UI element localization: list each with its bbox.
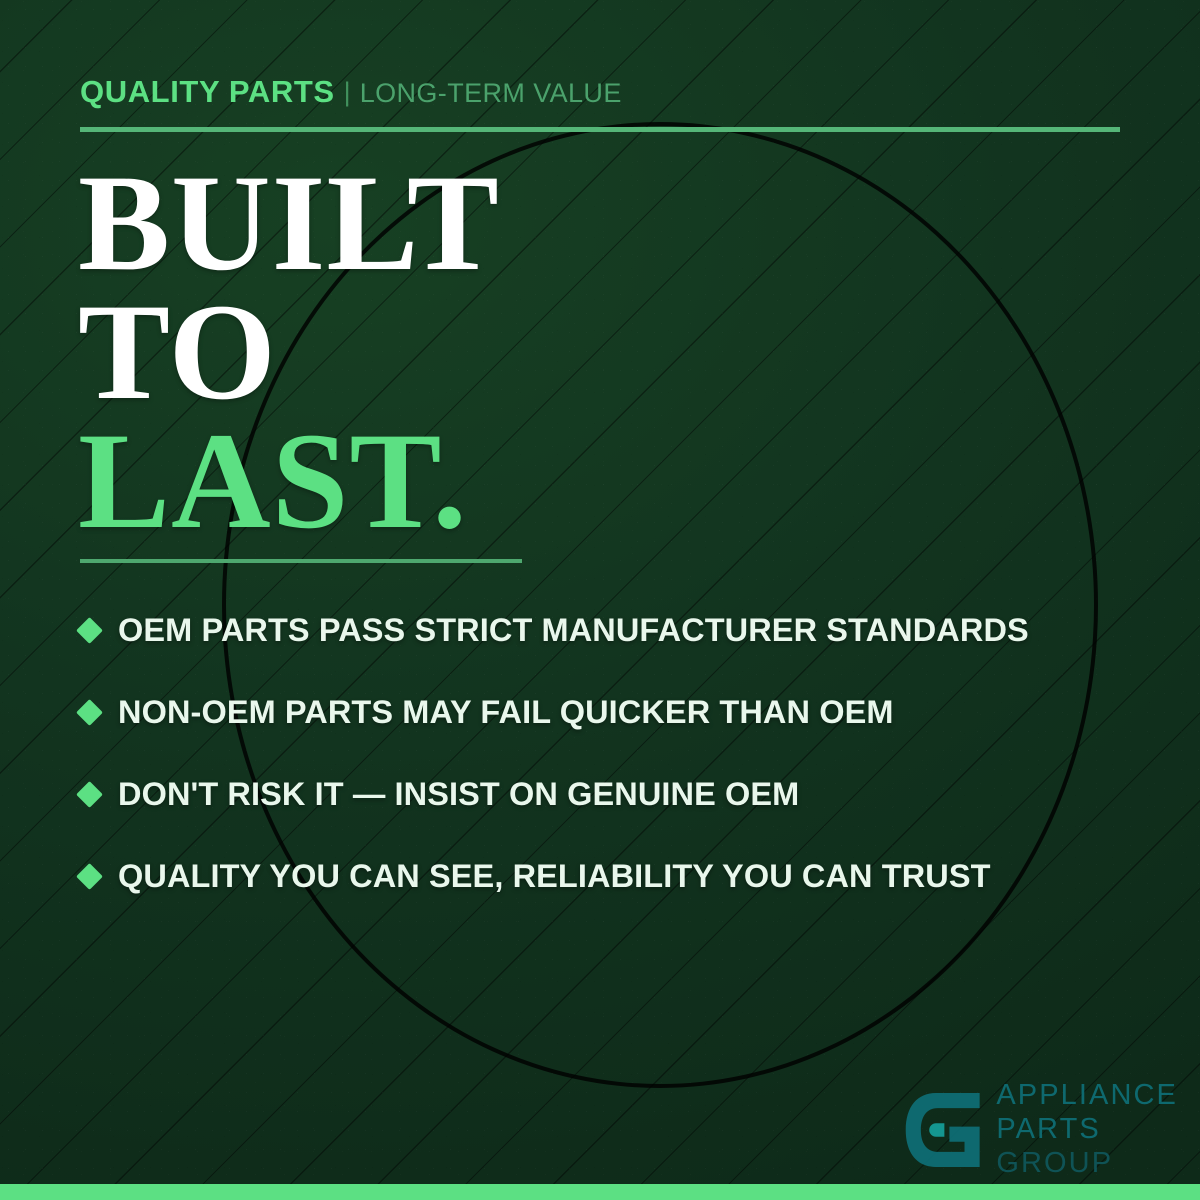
headline-divider-rule bbox=[80, 559, 522, 563]
brand-logo: APPLIANCE PARTS GROUP bbox=[899, 1081, 1178, 1178]
diamond-bullet-icon bbox=[76, 863, 103, 890]
eyebrow-header: QUALITY PARTS | LONG-TERM VALUE bbox=[80, 74, 622, 110]
diamond-bullet-icon bbox=[76, 781, 103, 808]
diamond-bullet-icon bbox=[76, 699, 103, 726]
brand-logo-wordmark: APPLIANCE PARTS GROUP bbox=[996, 1081, 1178, 1178]
brand-line-1: APPLIANCE bbox=[996, 1081, 1178, 1110]
list-item-label: NON-OEM PARTS MAY FAIL QUICKER THAN OEM bbox=[118, 694, 894, 731]
list-item: DON'T RISK IT — INSIST ON GENUINE OEM bbox=[80, 753, 1160, 835]
brand-line-3: GROUP bbox=[996, 1149, 1178, 1178]
bottom-accent-bar bbox=[0, 1184, 1200, 1200]
list-item-label: DON'T RISK IT — INSIST ON GENUINE OEM bbox=[118, 776, 799, 813]
headline-line-1: BUILT bbox=[78, 158, 500, 287]
page-title: BUILT TO LAST. bbox=[78, 158, 500, 545]
list-item-label: OEM PARTS PASS STRICT MANUFACTURER STAND… bbox=[118, 612, 1029, 649]
list-item: NON-OEM PARTS MAY FAIL QUICKER THAN OEM bbox=[80, 671, 1160, 753]
eyebrow-separator: | bbox=[344, 77, 351, 108]
headline-line-3: LAST. bbox=[78, 416, 500, 545]
benefits-list: OEM PARTS PASS STRICT MANUFACTURER STAND… bbox=[80, 589, 1160, 917]
promo-poster: QUALITY PARTS | LONG-TERM VALUE BUILT TO… bbox=[0, 0, 1200, 1200]
brand-line-2: PARTS bbox=[996, 1115, 1178, 1144]
headline-line-2: TO bbox=[78, 287, 500, 416]
list-item-label: QUALITY YOU CAN SEE, RELIABILITY YOU CAN… bbox=[118, 858, 991, 895]
appliance-parts-group-g-icon bbox=[899, 1088, 983, 1172]
list-item: QUALITY YOU CAN SEE, RELIABILITY YOU CAN… bbox=[80, 835, 1160, 917]
list-item: OEM PARTS PASS STRICT MANUFACTURER STAND… bbox=[80, 589, 1160, 671]
poster-content: QUALITY PARTS | LONG-TERM VALUE BUILT TO… bbox=[0, 0, 1200, 1200]
eyebrow-main-label: QUALITY PARTS bbox=[80, 74, 335, 110]
header-divider-rule bbox=[80, 127, 1120, 132]
eyebrow-sub-label: LONG-TERM VALUE bbox=[360, 78, 622, 109]
diamond-bullet-icon bbox=[76, 617, 103, 644]
